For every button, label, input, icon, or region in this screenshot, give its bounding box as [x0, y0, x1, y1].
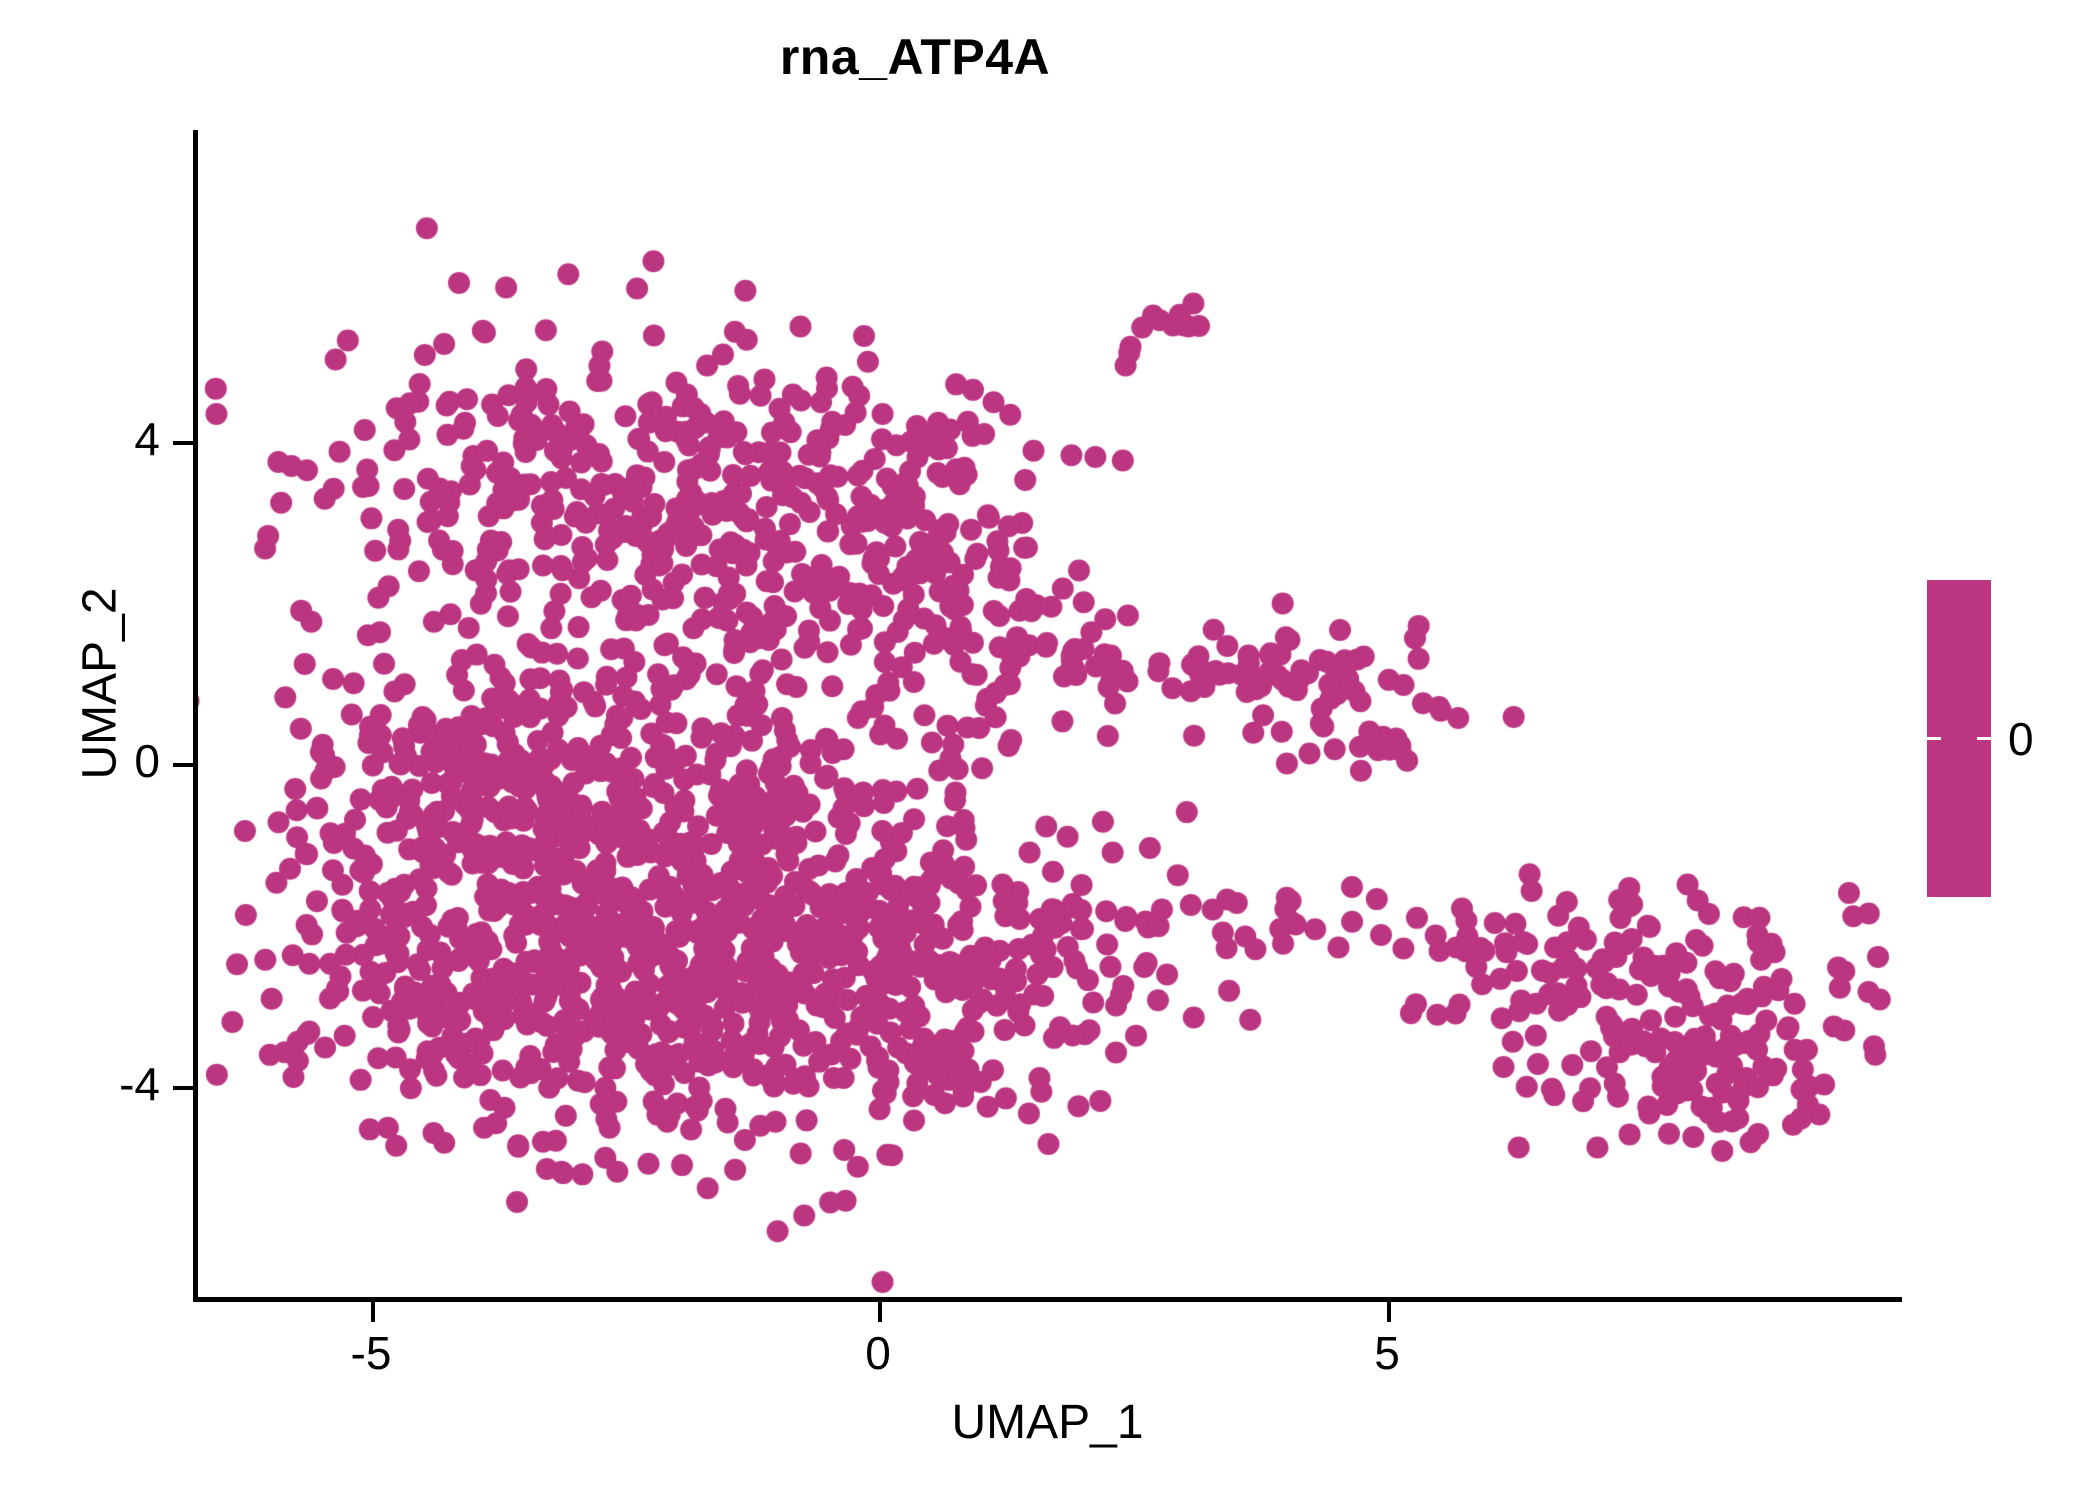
y-axis-line [193, 130, 198, 1302]
y-axis-tick-4 [173, 441, 193, 445]
colorbar-ticklabel-0: 0 [2008, 712, 2034, 766]
x-axis-ticklabel-5: 5 [1327, 1326, 1447, 1380]
page-title: rna_ATP4A [0, 28, 1830, 86]
x-axis-tick-minus5 [371, 1302, 375, 1322]
x-axis-ticklabel-minus5: -5 [311, 1326, 431, 1380]
x-axis-tick-5 [1387, 1302, 1391, 1322]
umap-feature-plot: rna_ATP4A -5 0 5 4 0 -4 UMAP_1 UMAP_2 0 [0, 0, 2100, 1500]
y-axis-tick-0 [173, 763, 193, 767]
y-axis-label: UMAP_2 [73, 334, 128, 1034]
x-axis-ticklabel-0: 0 [818, 1326, 938, 1380]
y-axis-tick-minus4 [173, 1086, 193, 1090]
x-axis-line [193, 1297, 1902, 1302]
x-axis-label: UMAP_1 [193, 1395, 1902, 1450]
colorbar-tick-right [1977, 737, 1991, 740]
scatter-plot-canvas [196, 130, 1902, 1297]
colorbar-tick-left [1927, 737, 1941, 740]
x-axis-tick-0 [878, 1302, 882, 1322]
y-axis-ticklabel-minus4: -4 [30, 1057, 160, 1111]
